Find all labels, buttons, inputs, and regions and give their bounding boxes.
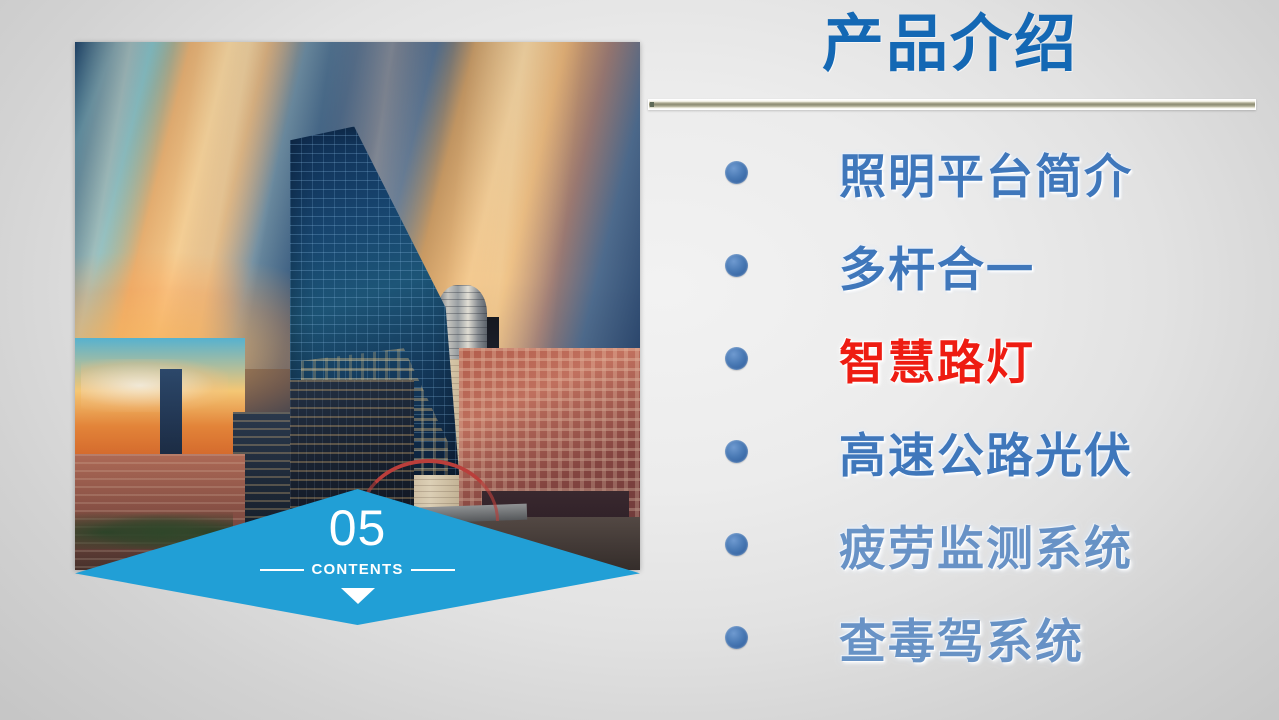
list-item[interactable]: 高速公路光伏 — [641, 405, 1279, 498]
list-item[interactable]: 疲劳监测系统 — [641, 498, 1279, 591]
list-item-label: 疲劳监测系统 — [839, 510, 1133, 579]
list-item[interactable]: 照明平台简介 — [641, 126, 1279, 219]
bullet-dot-icon — [725, 254, 748, 277]
list-item-label: 多杆合一 — [839, 231, 1035, 300]
list-item[interactable]: 智慧路灯 — [641, 312, 1279, 405]
list-item[interactable]: 查毒驾系统 — [641, 591, 1279, 684]
list-item-label: 照明平台简介 — [839, 138, 1133, 207]
list-item-label: 查毒驾系统 — [839, 603, 1084, 672]
right-content-column: 产品介绍 照明平台简介 多杆合一 智慧路灯 高速公路光伏 疲劳监测系统 — [641, 0, 1279, 720]
bullet-dot-icon — [725, 440, 748, 463]
list-item[interactable]: 多杆合一 — [641, 219, 1279, 312]
title-divider — [648, 99, 1256, 110]
presentation-slide: 05 CONTENTS 产品介绍 照明平台简介 多杆合一 智慧路灯 — [0, 0, 1279, 720]
bullet-dot-icon — [725, 347, 748, 370]
bullet-list: 照明平台简介 多杆合一 智慧路灯 高速公路光伏 疲劳监测系统 查毒驾系统 — [641, 126, 1279, 684]
bullet-dot-icon — [725, 161, 748, 184]
list-item-label: 高速公路光伏 — [839, 417, 1133, 486]
bullet-dot-icon — [725, 533, 748, 556]
page-title: 产品介绍 — [641, 6, 1259, 84]
bullet-dot-icon — [725, 626, 748, 649]
list-item-label: 智慧路灯 — [839, 324, 1035, 393]
